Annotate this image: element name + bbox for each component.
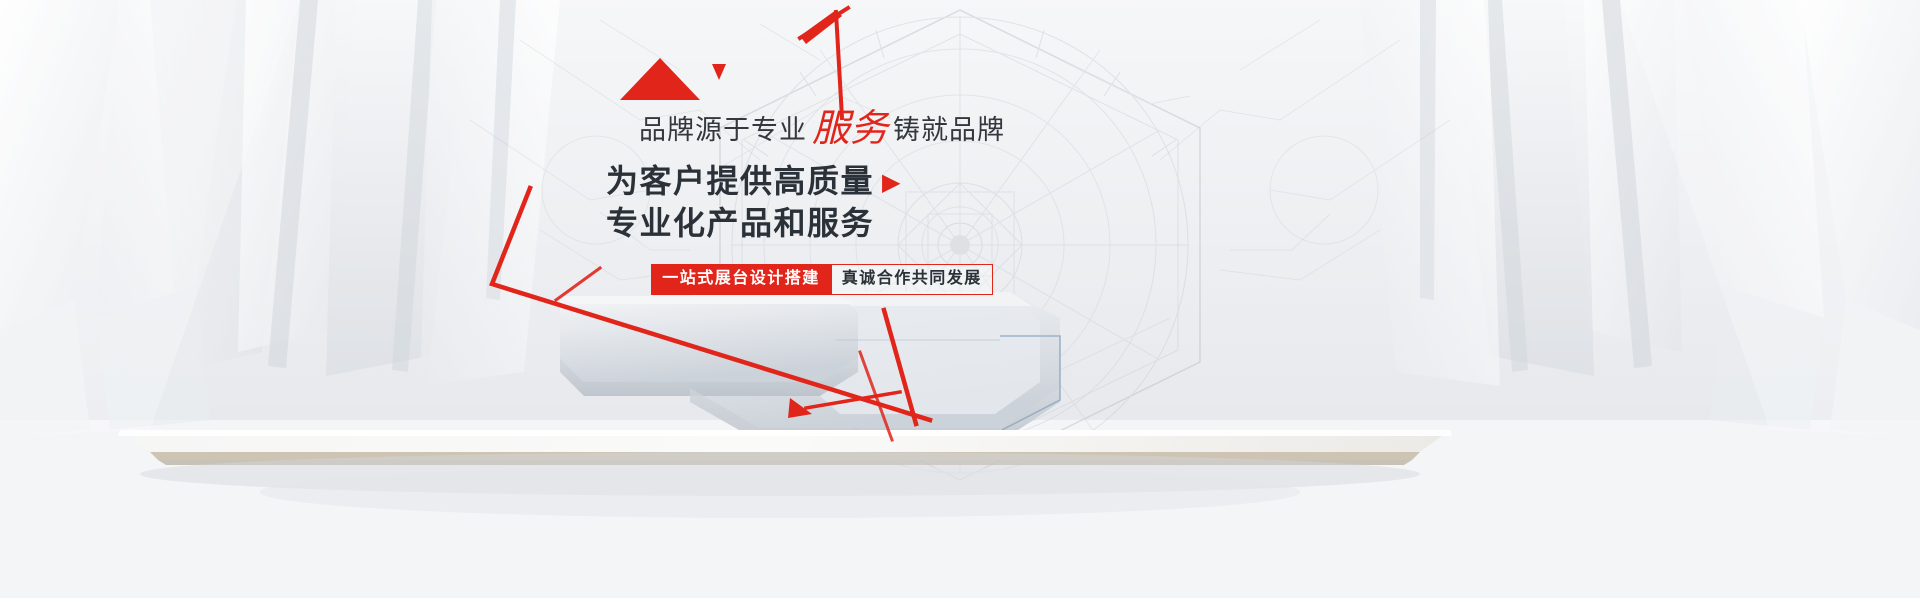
tagline: 品牌源于专业 服务 铸就品牌 (592, 108, 1052, 146)
background-panels-svg (0, 0, 1920, 598)
play-triangle-icon: ▶ (882, 167, 900, 199)
headline: 为客户提供高质量▶ 专业化产品和服务 (606, 160, 1052, 244)
badge-secondary: 真诚合作共同发展 (831, 264, 993, 295)
badge-row: 一站式展台设计搭建 真诚合作共同发展 (592, 264, 1052, 295)
headline-line-2: 专业化产品和服务 (606, 202, 1052, 244)
tagline-part2: 铸就品牌 (893, 117, 1005, 144)
background-graphics (0, 0, 1920, 598)
hero-text-block: 品牌源于专业 服务 铸就品牌 为客户提供高质量▶ 专业化产品和服务 一站式展台设… (592, 108, 1052, 295)
headline-line-1-text: 为客户提供高质量 (606, 163, 874, 199)
hero-banner: 品牌源于专业 服务 铸就品牌 为客户提供高质量▶ 专业化产品和服务 一站式展台设… (0, 0, 1920, 598)
tagline-highlight: 服务 (807, 110, 893, 148)
badge-primary: 一站式展台设计搭建 (651, 264, 831, 295)
tagline-part1: 品牌源于专业 (639, 117, 807, 144)
headline-line-1: 为客户提供高质量▶ (606, 160, 1052, 202)
